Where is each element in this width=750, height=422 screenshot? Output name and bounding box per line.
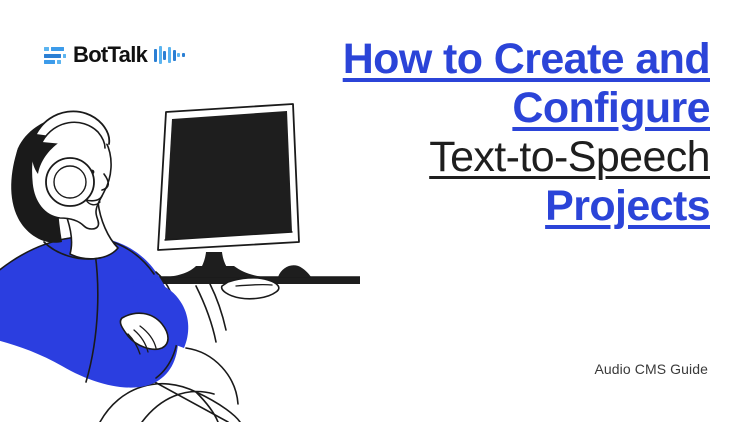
footer-caption: Audio CMS Guide	[594, 361, 708, 377]
illus-right-hand	[196, 278, 279, 342]
bottalk-logo[interactable]: BotTalk	[44, 41, 185, 69]
illustration-person-with-headphones-at-computer	[0, 86, 360, 422]
brand-name: BotTalk	[73, 44, 147, 66]
title-line-1-text: How to Create and	[343, 35, 710, 83]
title-line-3-text: Text-to-Speech	[429, 133, 710, 181]
illus-monitor	[158, 104, 299, 277]
title-line-2-text: Configure	[512, 84, 710, 132]
bars-logo-icon	[44, 44, 68, 66]
title-line-1: How to Create and	[270, 38, 710, 81]
audio-waveform-icon	[154, 44, 185, 66]
slide-canvas: BotTalk How to Create and Configure Text…	[0, 0, 750, 422]
illus-mouse	[278, 265, 311, 277]
title-line-4-text: Projects	[545, 182, 710, 230]
